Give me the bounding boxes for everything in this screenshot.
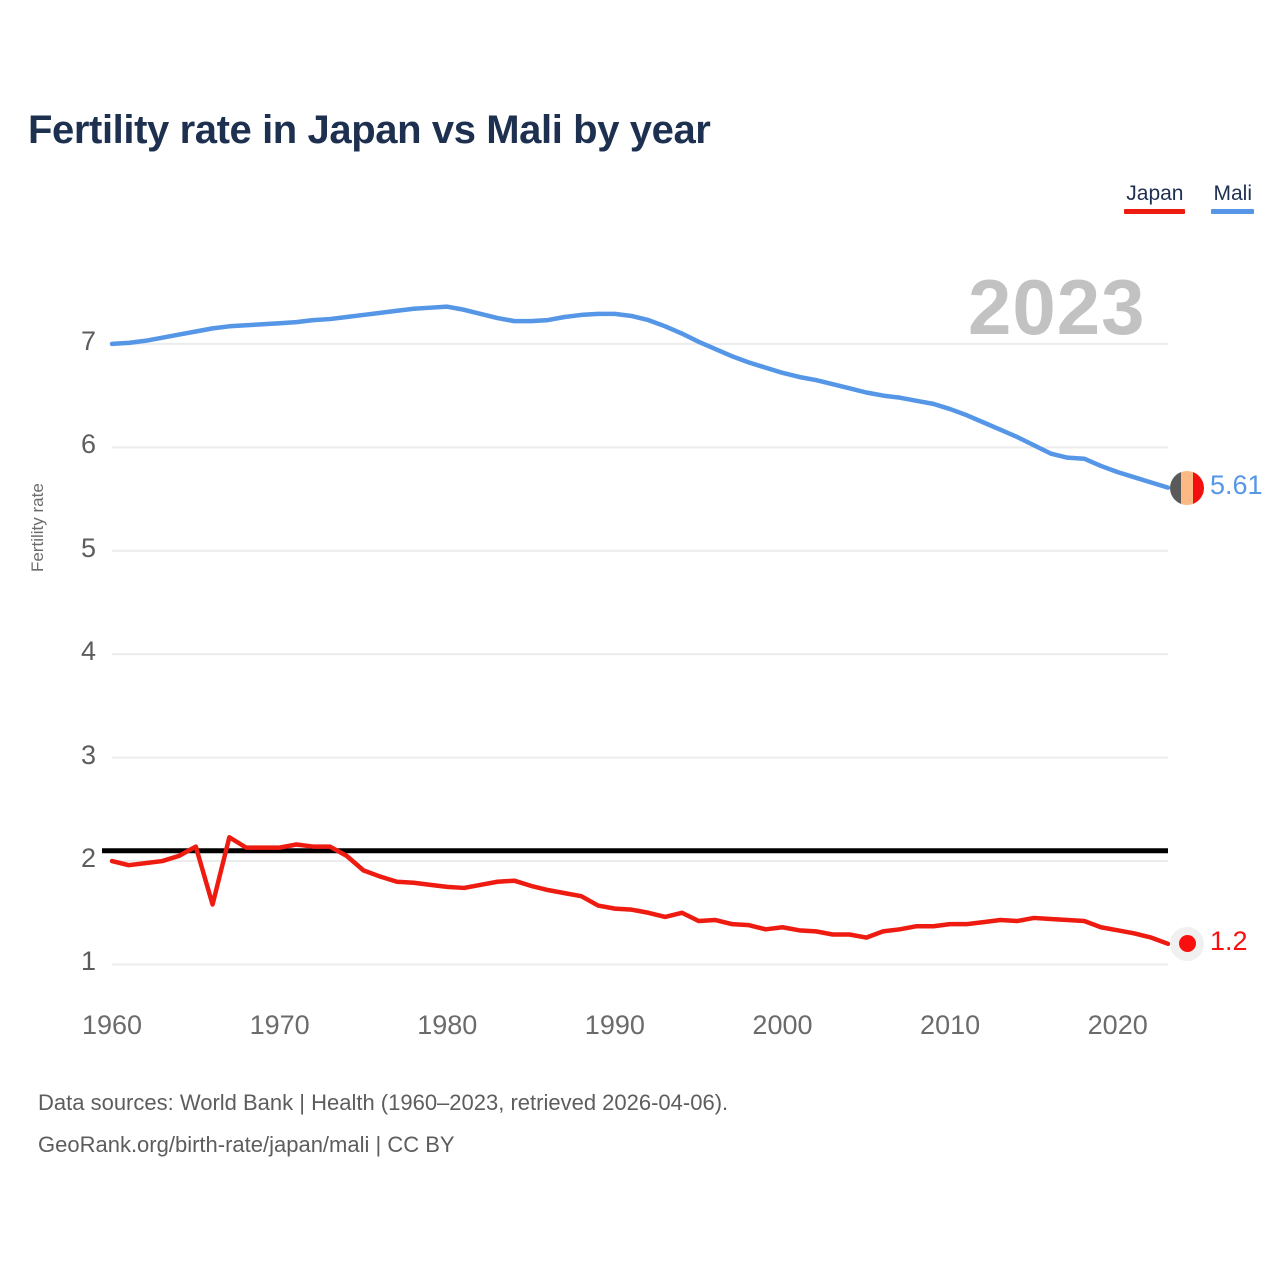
- legend-color-swatch-japan: [1124, 209, 1185, 214]
- legend-item-japan[interactable]: Japan: [1124, 182, 1185, 214]
- x-tick-label: 2020: [1073, 1010, 1163, 1041]
- x-tick-label: 1990: [570, 1010, 660, 1041]
- series-line-mali: [112, 307, 1168, 488]
- x-tick-label: 2010: [905, 1010, 995, 1041]
- y-tick-label: 6: [56, 429, 96, 460]
- mali-flag-band-yellow: [1181, 471, 1192, 505]
- x-tick-label: 2000: [737, 1010, 827, 1041]
- legend-color-swatch-mali: [1211, 209, 1254, 214]
- y-tick-label: 4: [56, 636, 96, 667]
- y-tick-label: 7: [56, 326, 96, 357]
- y-tick-label: 3: [56, 740, 96, 771]
- end-value-japan: 1.2: [1210, 926, 1248, 957]
- gridlines: [112, 344, 1168, 965]
- legend-label-mali: Mali: [1211, 182, 1254, 206]
- plot-area: [0, 240, 1280, 1030]
- legend-item-mali[interactable]: Mali: [1211, 182, 1254, 214]
- japan-flag-disc: [1179, 935, 1196, 952]
- page-title: Fertility rate in Japan vs Mali by year: [28, 108, 710, 153]
- y-tick-label: 5: [56, 533, 96, 564]
- end-value-mali: 5.61: [1210, 470, 1263, 501]
- x-tick-label: 1980: [402, 1010, 492, 1041]
- x-tick-label: 1960: [67, 1010, 157, 1041]
- line-chart-svg: [0, 240, 1280, 1030]
- y-tick-label: 2: [56, 843, 96, 874]
- footer-data-sources: Data sources: World Bank | Health (1960–…: [38, 1082, 728, 1124]
- legend-label-japan: Japan: [1124, 182, 1185, 206]
- footer-attribution: Data sources: World Bank | Health (1960–…: [38, 1082, 728, 1166]
- y-tick-label: 1: [56, 946, 96, 977]
- chart-page: Fertility rate in Japan vs Mali by year …: [0, 0, 1280, 1280]
- chart-legend: Japan Mali: [1124, 182, 1254, 214]
- mali-flag-circle-icon: [1170, 471, 1204, 505]
- series-line-japan: [112, 837, 1168, 944]
- footer-source-url: GeoRank.org/birth-rate/japan/mali | CC B…: [38, 1124, 728, 1166]
- x-tick-label: 1970: [235, 1010, 325, 1041]
- japan-flag-circle-icon: [1170, 927, 1204, 961]
